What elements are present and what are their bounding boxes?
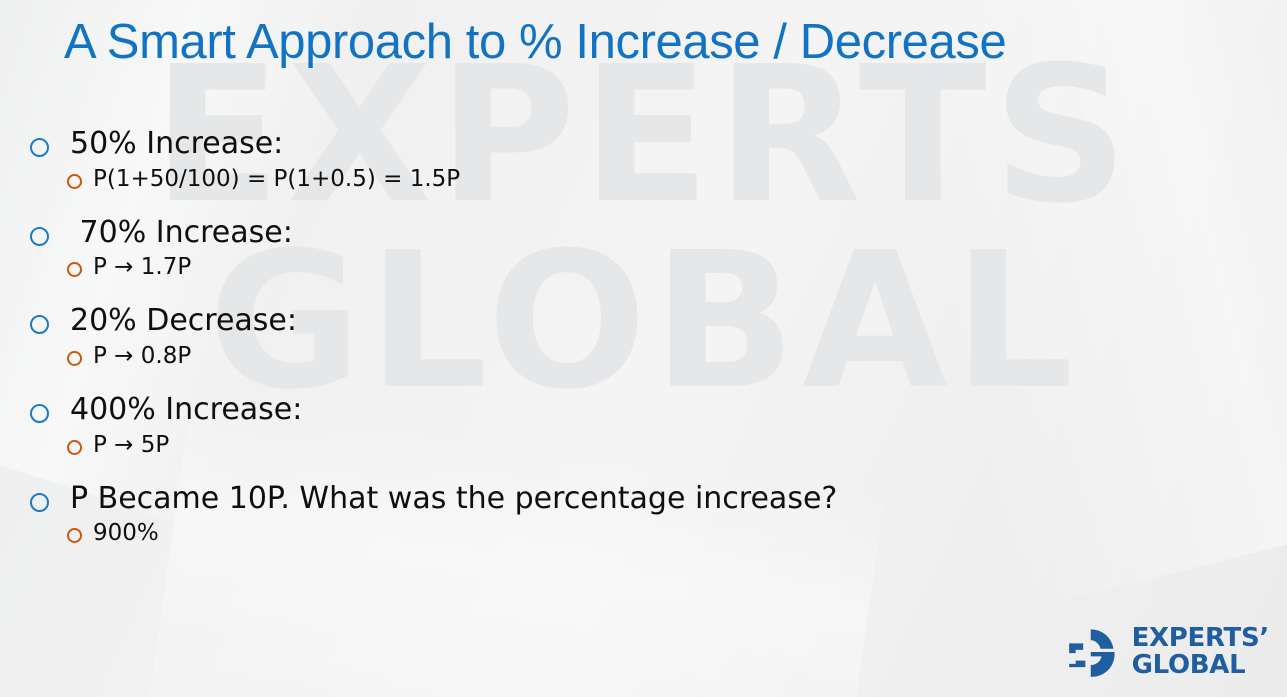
brand-logo-text: EXPERTS’ GLOBAL [1132, 625, 1269, 678]
circle-sub-bullet-icon [67, 351, 82, 366]
slide-canvas: EXPERTS GLOBAL A Smart Approach to % Inc… [0, 0, 1287, 697]
bullet-list: 50% Increase: P(1+50/100) = P(1+0.5) = 1… [30, 126, 1040, 547]
bullet-heading: P Became 10P. What was the percentage in… [70, 481, 837, 518]
circle-bullet-icon [30, 404, 49, 423]
bullet-detail: P → 1.7P [93, 253, 191, 281]
brand-logo-line-1: EXPERTS’ [1132, 625, 1269, 652]
circle-sub-bullet-icon [67, 440, 82, 455]
bullet-heading: 20% Decrease: [70, 303, 297, 340]
bullet-detail: P → 5P [93, 431, 169, 459]
bullet-heading: 70% Increase: [70, 215, 293, 252]
circle-bullet-icon [30, 493, 49, 512]
bullet-item-level1: 50% Increase: [30, 126, 1040, 163]
bullet-group: P Became 10P. What was the percentage in… [30, 481, 1040, 548]
brand-logo: EXPERTS’ GLOBAL [1067, 625, 1269, 679]
bullet-group: 50% Increase: P(1+50/100) = P(1+0.5) = 1… [30, 126, 1040, 193]
experts-global-g-mark-icon [1067, 625, 1121, 679]
bullet-detail: P → 0.8P [93, 342, 191, 370]
bullet-group: 70% Increase: P → 1.7P [30, 215, 1040, 282]
bullet-detail: P(1+50/100) = P(1+0.5) = 1.5P [93, 165, 460, 193]
bullet-item-level2: 900% [67, 519, 1040, 547]
bullet-group: 400% Increase: P → 5P [30, 392, 1040, 459]
slide-title: A Smart Approach to % Increase / Decreas… [64, 14, 1006, 70]
circle-bullet-icon [30, 138, 49, 157]
bullet-item-level1: 400% Increase: [30, 392, 1040, 429]
bullet-item-level1: 70% Increase: [30, 215, 1040, 252]
bullet-item-level1: 20% Decrease: [30, 303, 1040, 340]
bullet-detail: 900% [93, 519, 159, 547]
circle-sub-bullet-icon [67, 528, 82, 543]
bullet-heading: 50% Increase: [70, 126, 283, 163]
circle-bullet-icon [30, 227, 49, 246]
circle-sub-bullet-icon [67, 174, 82, 189]
bullet-item-level1: P Became 10P. What was the percentage in… [30, 481, 1040, 518]
circle-sub-bullet-icon [67, 262, 82, 277]
bullet-item-level2: P → 5P [67, 431, 1040, 459]
brand-logo-line-2: GLOBAL [1132, 652, 1269, 679]
bullet-group: 20% Decrease: P → 0.8P [30, 303, 1040, 370]
bullet-item-level2: P → 1.7P [67, 253, 1040, 281]
bullet-item-level2: P → 0.8P [67, 342, 1040, 370]
bullet-heading: 400% Increase: [70, 392, 302, 429]
circle-bullet-icon [30, 315, 49, 334]
bullet-item-level2: P(1+50/100) = P(1+0.5) = 1.5P [67, 165, 1040, 193]
